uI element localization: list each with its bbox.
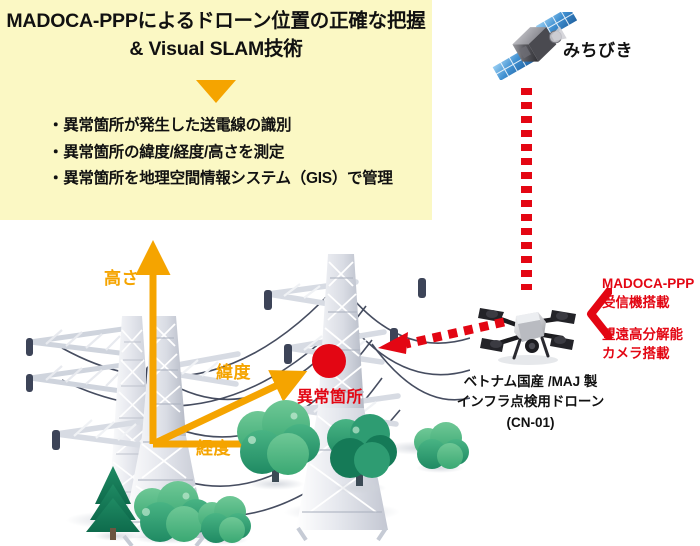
drone-to-anomaly-signal	[372, 316, 508, 356]
page-title: MADOCA-PPPによるドローン位置の正確な把握 & Visual SLAM技…	[0, 8, 432, 63]
slide-canvas: MADOCA-PPPによるドローン位置の正確な把握 & Visual SLAM技…	[0, 0, 700, 546]
anomaly-label: 異常箇所	[297, 383, 363, 407]
axis-label-latitude: 緯度	[216, 358, 251, 383]
satellite-label: みちびき	[563, 36, 633, 61]
list-item: 異常箇所を地理空間情報システム（GIS）で管理	[48, 166, 428, 193]
axis-label-longitude: 経度	[196, 434, 231, 459]
summary-callout-box: MADOCA-PPPによるドローン位置の正確な把握 & Visual SLAM技…	[0, 0, 432, 220]
list-item: 異常箇所が発生した送電線の識別	[48, 113, 428, 140]
bullet-list: 異常箇所が発生した送電線の識別 異常箇所の緯度/経度/高さを測定 異常箇所を地理…	[48, 113, 428, 193]
axis-label-height: 高さ	[104, 264, 139, 289]
drone-caption: ベトナム国産 /MAJ 製 インフラ点検用ドローン (CN-01)	[418, 372, 643, 433]
transmission-line-scene	[0, 220, 470, 546]
feature-label: MADOCA-PPP 受信機搭載	[602, 274, 694, 312]
red-dot-marker-icon	[312, 344, 346, 378]
satellite-to-drone-signal	[521, 88, 532, 290]
list-item: 異常箇所の緯度/経度/高さを測定	[48, 140, 428, 167]
down-triangle-icon	[196, 80, 236, 103]
feature-label: 望遠高分解能 カメラ搭載	[602, 325, 683, 363]
